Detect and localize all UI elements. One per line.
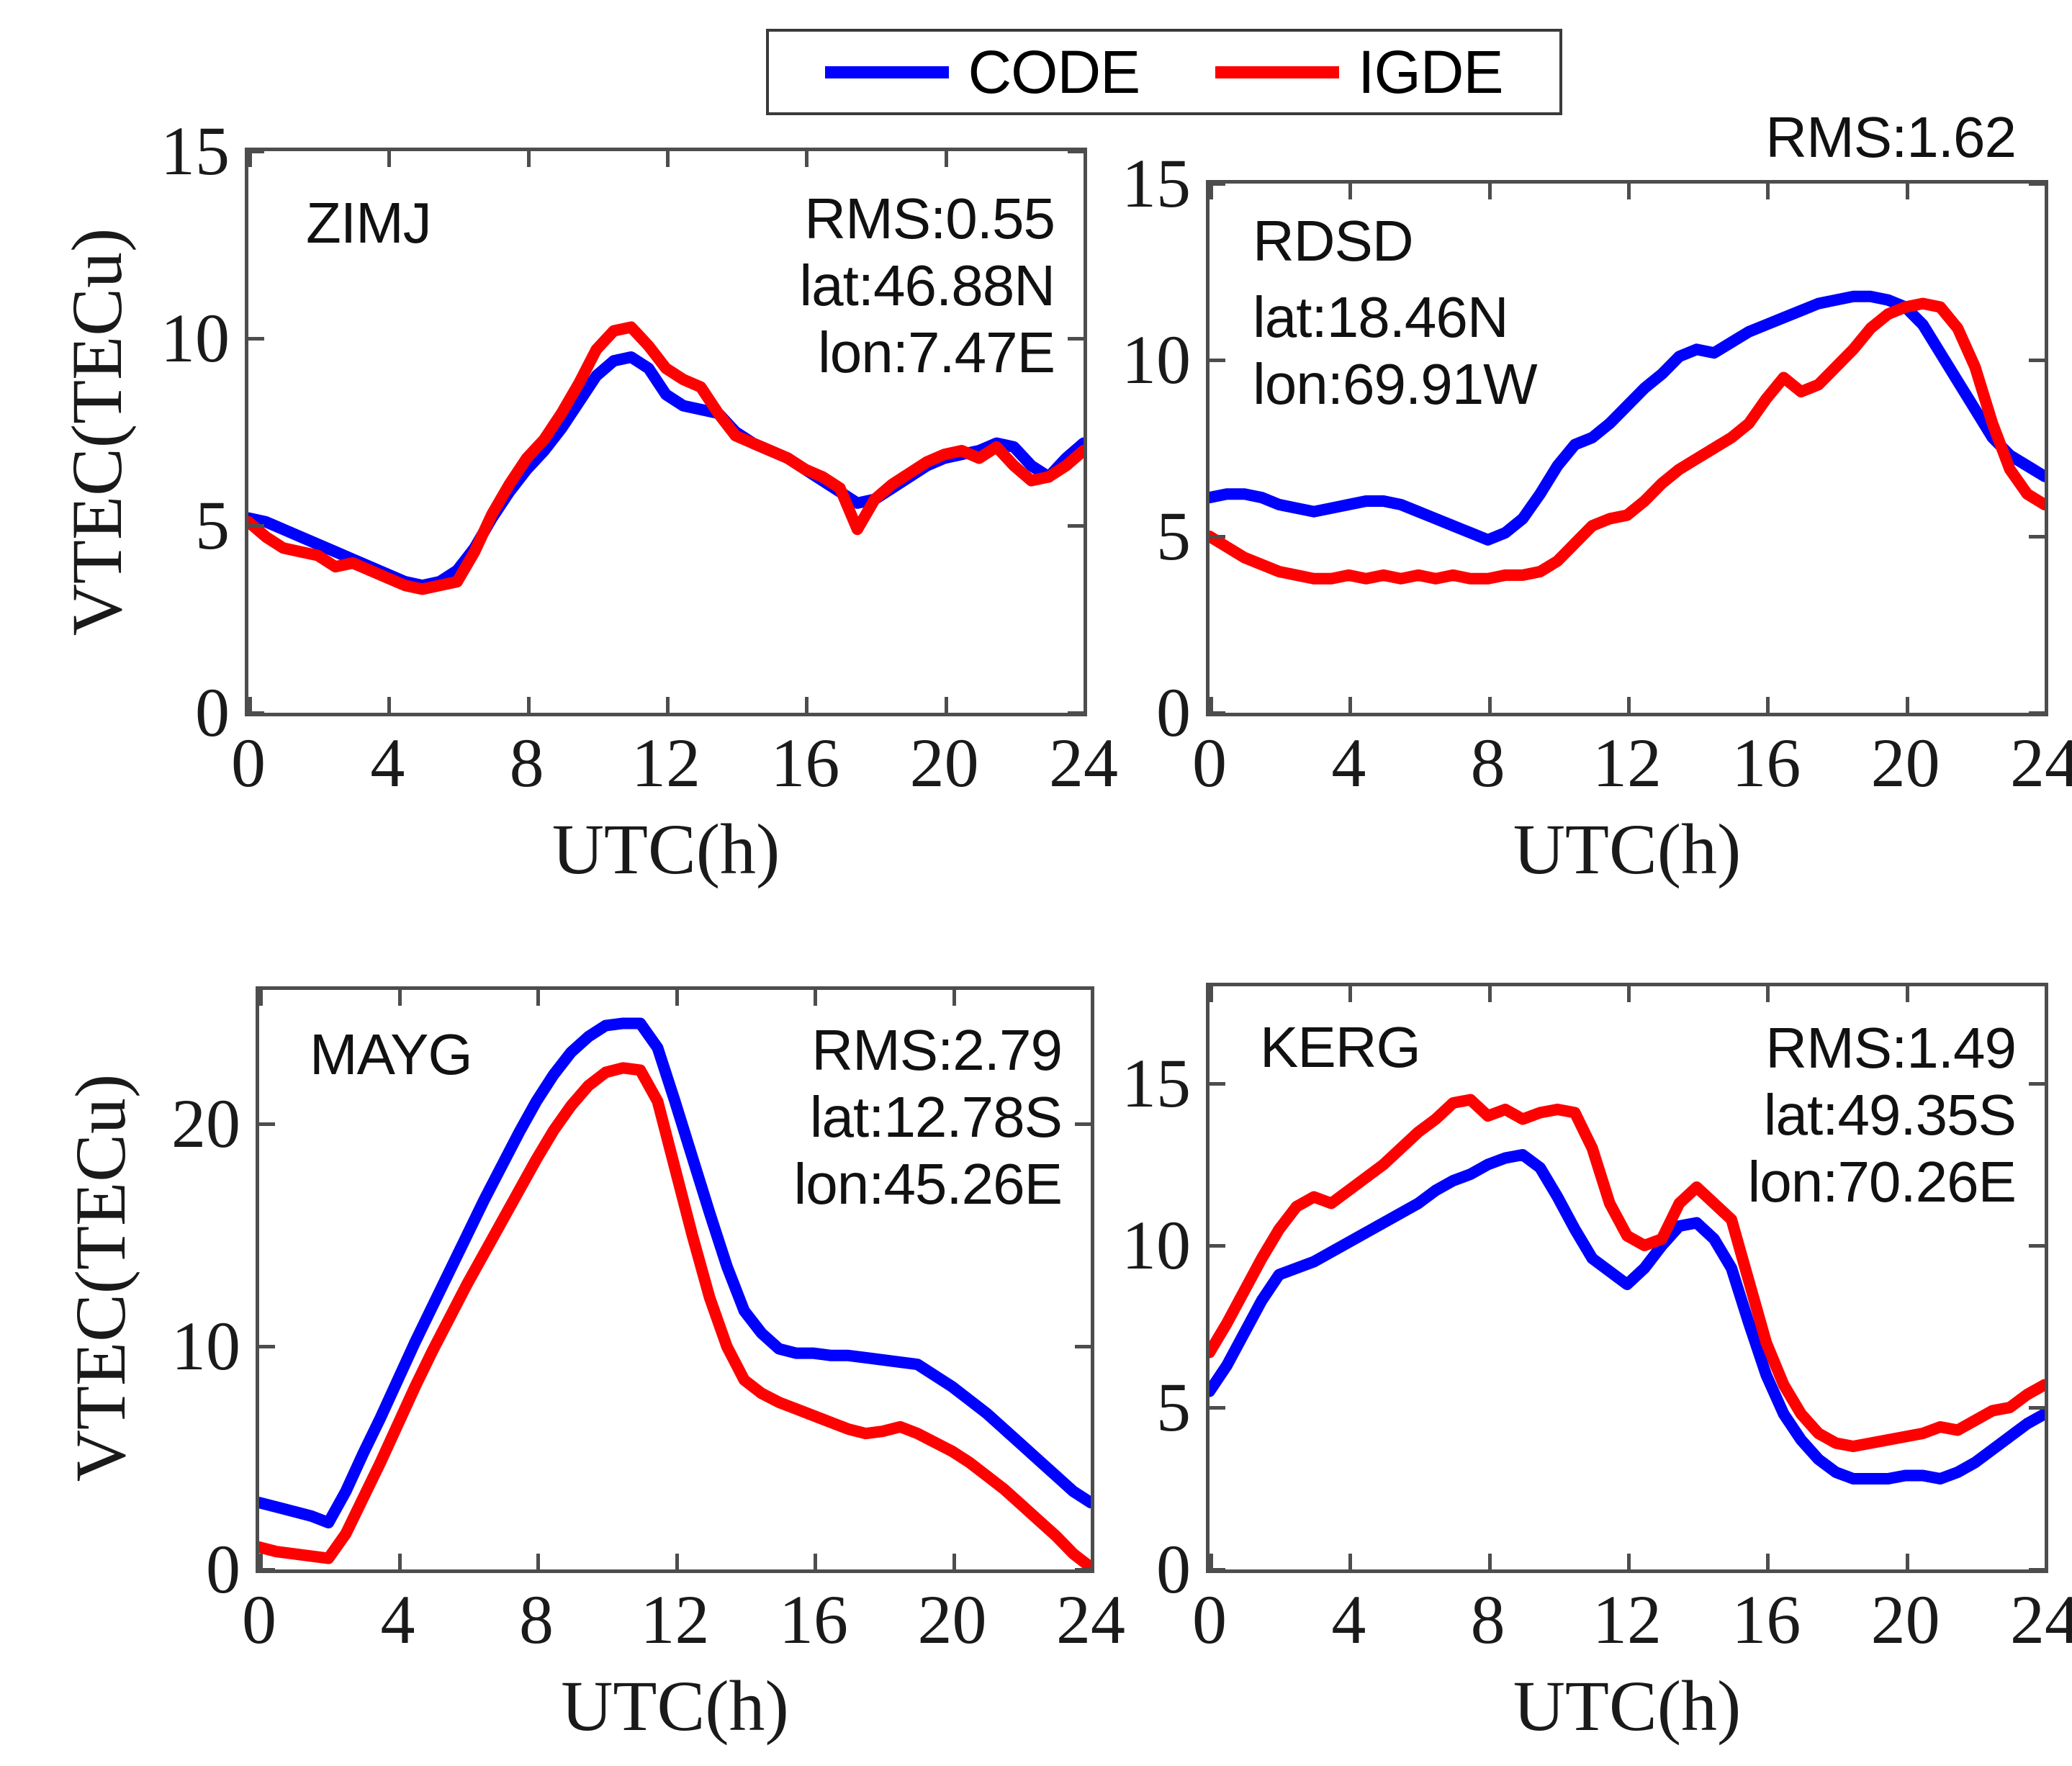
- station-label-zimj: ZIMJ: [306, 194, 431, 252]
- y-tickmark-right: [2029, 1244, 2045, 1248]
- x-tick-label: 12: [631, 729, 701, 798]
- lon-value-rdsd: lon:69.91W: [1253, 351, 1537, 418]
- vtec-comparison-figure: CODE IGDE ZIMJ RMS:0.55 lat:46.88N lon:7…: [0, 0, 2072, 1766]
- x-tick-label: 16: [770, 729, 839, 798]
- plot-area-rdsd: RDSD RMS:1.62 lat:18.46N lon:69.91W UTC(…: [1206, 180, 2048, 716]
- y-tickmark: [1210, 1406, 1225, 1410]
- legend-line-swatch-igde: [1215, 66, 1339, 78]
- y-tick-label: 20: [171, 1089, 240, 1158]
- y-tickmark-right: [2029, 1406, 2045, 1410]
- x-axis-title-rdsd: UTC(h): [1513, 814, 1742, 886]
- x-tickmark: [1627, 697, 1631, 713]
- x-tickmark-top: [1627, 986, 1631, 1002]
- x-tick-label: 4: [370, 729, 405, 798]
- x-tickmark-top: [1348, 986, 1352, 1002]
- legend-line-swatch-code: [825, 66, 949, 78]
- rms-value-kerg: RMS:1.49: [1747, 1015, 2016, 1082]
- x-tickmark: [1906, 1554, 1909, 1569]
- x-tickmark: [1210, 1554, 1213, 1569]
- x-tickmark-top: [1488, 986, 1492, 1002]
- x-axis-title-mayg: UTC(h): [561, 1670, 789, 1742]
- x-tickmark: [1488, 1554, 1492, 1569]
- x-tickmark: [248, 697, 252, 713]
- x-tickmark-top: [1210, 184, 1213, 199]
- x-axis-title-kerg: UTC(h): [1513, 1670, 1742, 1742]
- x-tick-label: 20: [910, 729, 979, 798]
- x-tick-label: 24: [2010, 1585, 2072, 1654]
- x-tickmark-top: [1488, 184, 1492, 199]
- x-tickmark-top: [536, 990, 540, 1006]
- x-tickmark: [536, 1554, 540, 1569]
- x-tickmark-top: [248, 151, 252, 167]
- x-tick-label: 20: [1871, 1585, 1940, 1654]
- y-tick-label: 15: [1122, 149, 1191, 218]
- y-tickmark-right: [1068, 711, 1084, 715]
- x-tickmark: [1627, 1554, 1631, 1569]
- x-tick-label: 8: [1471, 729, 1505, 798]
- x-tick-label: 16: [1731, 729, 1801, 798]
- y-tick-label: 10: [1122, 325, 1191, 395]
- legend-label-igde: IGDE: [1358, 42, 1503, 102]
- x-tickmark-top: [1766, 184, 1770, 199]
- x-tickmark-top: [398, 990, 402, 1006]
- x-tickmark-top: [527, 151, 531, 167]
- y-tick-label: 10: [1122, 1211, 1191, 1280]
- x-tickmark: [2045, 1554, 2048, 1569]
- y-tickmark-right: [2029, 711, 2045, 715]
- x-tickmark: [387, 697, 391, 713]
- x-tickmark-top: [1906, 184, 1909, 199]
- x-tick-label: 24: [2010, 729, 2072, 798]
- y-tickmark-right: [1068, 150, 1084, 153]
- rms-value-mayg: RMS:2.79: [793, 1017, 1062, 1084]
- series-line-code: [248, 357, 1084, 585]
- x-tick-label: 4: [1331, 1585, 1366, 1654]
- x-tick-label: 0: [242, 1585, 276, 1654]
- x-tick-label: 8: [519, 1585, 554, 1654]
- x-tickmark-top: [387, 151, 391, 167]
- y-tickmark: [1210, 535, 1225, 539]
- x-tickmark: [1091, 1554, 1094, 1569]
- y-tickmark-right: [1075, 1568, 1091, 1572]
- x-tick-label: 12: [641, 1585, 710, 1654]
- y-tickmark: [1210, 359, 1225, 362]
- lat-value-kerg: lat:49.35S: [1747, 1082, 2016, 1149]
- legend-entry-igde: IGDE: [1215, 42, 1503, 102]
- x-tick-label: 24: [1056, 1585, 1125, 1654]
- legend-label-code: CODE: [968, 42, 1140, 102]
- x-tick-label: 20: [1871, 729, 1940, 798]
- y-tick-label: 10: [161, 304, 230, 373]
- y-tickmark-right: [1075, 1122, 1091, 1126]
- x-tickmark: [1348, 1554, 1352, 1569]
- stats-block-kerg: RMS:1.49 lat:49.35S lon:70.26E: [1747, 1015, 2016, 1215]
- lon-value-kerg: lon:70.26E: [1747, 1149, 2016, 1216]
- y-tick-label: 5: [1156, 502, 1191, 571]
- x-tickmark-top: [2045, 986, 2048, 1002]
- stats-block-mayg: RMS:2.79 lat:12.78S lon:45.26E: [793, 1017, 1062, 1217]
- x-tickmark-top: [1348, 184, 1352, 199]
- lat-value-zimj: lat:46.88N: [799, 253, 1055, 320]
- x-tick-label: 4: [1331, 729, 1366, 798]
- y-tickmark-right: [2029, 1568, 2045, 1572]
- x-tick-label: 4: [381, 1585, 415, 1654]
- x-tickmark: [1766, 1554, 1770, 1569]
- x-tick-label: 24: [1049, 729, 1118, 798]
- rms-value-rdsd: RMS:1.62: [1765, 104, 2016, 171]
- figure-legend: CODE IGDE: [766, 29, 1562, 115]
- x-axis-title-zimj: UTC(h): [552, 814, 780, 886]
- x-tickmark: [527, 697, 531, 713]
- y-tick-label: 15: [161, 117, 230, 186]
- x-tick-label: 0: [1192, 1585, 1227, 1654]
- x-tickmark: [1084, 697, 1087, 713]
- x-tick-label: 0: [1192, 729, 1227, 798]
- x-tickmark: [1348, 697, 1352, 713]
- x-tickmark: [2045, 697, 2048, 713]
- y-tickmark: [259, 1122, 275, 1126]
- y-tickmark: [1210, 1082, 1225, 1086]
- rms-value-zimj: RMS:0.55: [799, 186, 1055, 253]
- x-tickmark: [398, 1554, 402, 1569]
- x-tickmark-top: [1766, 986, 1770, 1002]
- x-tickmark-top: [1210, 986, 1213, 1002]
- x-tickmark-top: [2045, 184, 2048, 199]
- stats-block-rdsd: RMS:1.62: [1765, 104, 2016, 171]
- x-tickmark-top: [259, 990, 263, 1006]
- x-tickmark: [945, 697, 948, 713]
- y-tickmark-right: [1068, 337, 1084, 341]
- y-tick-label: 15: [1122, 1049, 1191, 1118]
- lon-value-zimj: lon:7.47E: [799, 320, 1055, 387]
- x-tickmark: [1766, 697, 1770, 713]
- y-tick-label: 0: [195, 678, 230, 747]
- x-tickmark: [1210, 697, 1213, 713]
- x-tickmark-top: [952, 990, 956, 1006]
- y-tickmark-right: [2029, 182, 2045, 186]
- x-tick-label: 12: [1593, 729, 1662, 798]
- y-tickmark: [1210, 1244, 1225, 1248]
- x-tick-label: 0: [231, 729, 266, 798]
- x-tickmark: [1906, 697, 1909, 713]
- station-label-rdsd: RDSD: [1253, 212, 1413, 270]
- y-tickmark-right: [1068, 524, 1084, 528]
- x-tickmark-top: [805, 151, 808, 167]
- x-tickmark-top: [945, 151, 948, 167]
- y-tick-label: 5: [1156, 1373, 1191, 1442]
- y-tickmark-right: [2029, 535, 2045, 539]
- x-tick-label: 20: [918, 1585, 987, 1654]
- lon-value-mayg: lon:45.26E: [793, 1151, 1062, 1218]
- x-tickmark-top: [1084, 151, 1087, 167]
- x-tickmark-top: [1091, 990, 1094, 1006]
- legend-entry-code: CODE: [825, 42, 1140, 102]
- y-tick-label: 0: [206, 1535, 240, 1604]
- y-tick-label: 5: [195, 491, 230, 560]
- x-tickmark-top: [1627, 184, 1631, 199]
- x-tickmark: [805, 697, 808, 713]
- x-tickmark-top: [666, 151, 670, 167]
- plot-area-zimj: ZIMJ RMS:0.55 lat:46.88N lon:7.47E VTEC(…: [245, 148, 1087, 716]
- station-coords-rdsd: lat:18.46N lon:69.91W: [1253, 284, 1537, 418]
- x-tickmark: [675, 1554, 679, 1569]
- x-tick-label: 12: [1593, 1585, 1662, 1654]
- y-tickmark-right: [1075, 1345, 1091, 1348]
- x-tickmark: [814, 1554, 817, 1569]
- y-tickmark: [248, 337, 264, 341]
- x-tick-label: 16: [1731, 1585, 1801, 1654]
- y-tickmark: [248, 524, 264, 528]
- x-tickmark: [1488, 697, 1492, 713]
- stats-block-zimj: RMS:0.55 lat:46.88N lon:7.47E: [799, 186, 1055, 386]
- x-tickmark-top: [814, 990, 817, 1006]
- station-label-mayg: MAYG: [310, 1026, 472, 1084]
- y-tick-label: 0: [1156, 678, 1191, 747]
- y-tickmark-right: [2029, 359, 2045, 362]
- y-tickmark-right: [2029, 1082, 2045, 1086]
- plot-area-mayg: MAYG RMS:2.79 lat:12.78S lon:45.26E VTEC…: [256, 986, 1094, 1573]
- x-tickmark-top: [1906, 986, 1909, 1002]
- lat-value-mayg: lat:12.78S: [793, 1084, 1062, 1151]
- station-label-kerg: KERG: [1260, 1019, 1420, 1076]
- y-tick-label: 0: [1156, 1535, 1191, 1604]
- y-tickmark: [259, 1345, 275, 1348]
- x-tickmark: [952, 1554, 956, 1569]
- y-tick-label: 10: [171, 1312, 240, 1381]
- x-tick-label: 16: [779, 1585, 848, 1654]
- y-axis-title-zimj: VTEC(TECu): [61, 180, 133, 684]
- plot-area-kerg: KERG RMS:1.49 lat:49.35S lon:70.26E UTC(…: [1206, 983, 2048, 1573]
- x-tickmark: [666, 697, 670, 713]
- x-tick-label: 8: [1471, 1585, 1505, 1654]
- lat-value-rdsd: lat:18.46N: [1253, 284, 1537, 351]
- y-axis-title-mayg: VTEC(TECu): [65, 1026, 137, 1530]
- x-tickmark: [259, 1554, 263, 1569]
- x-tick-label: 8: [510, 729, 544, 798]
- x-tickmark-top: [675, 990, 679, 1006]
